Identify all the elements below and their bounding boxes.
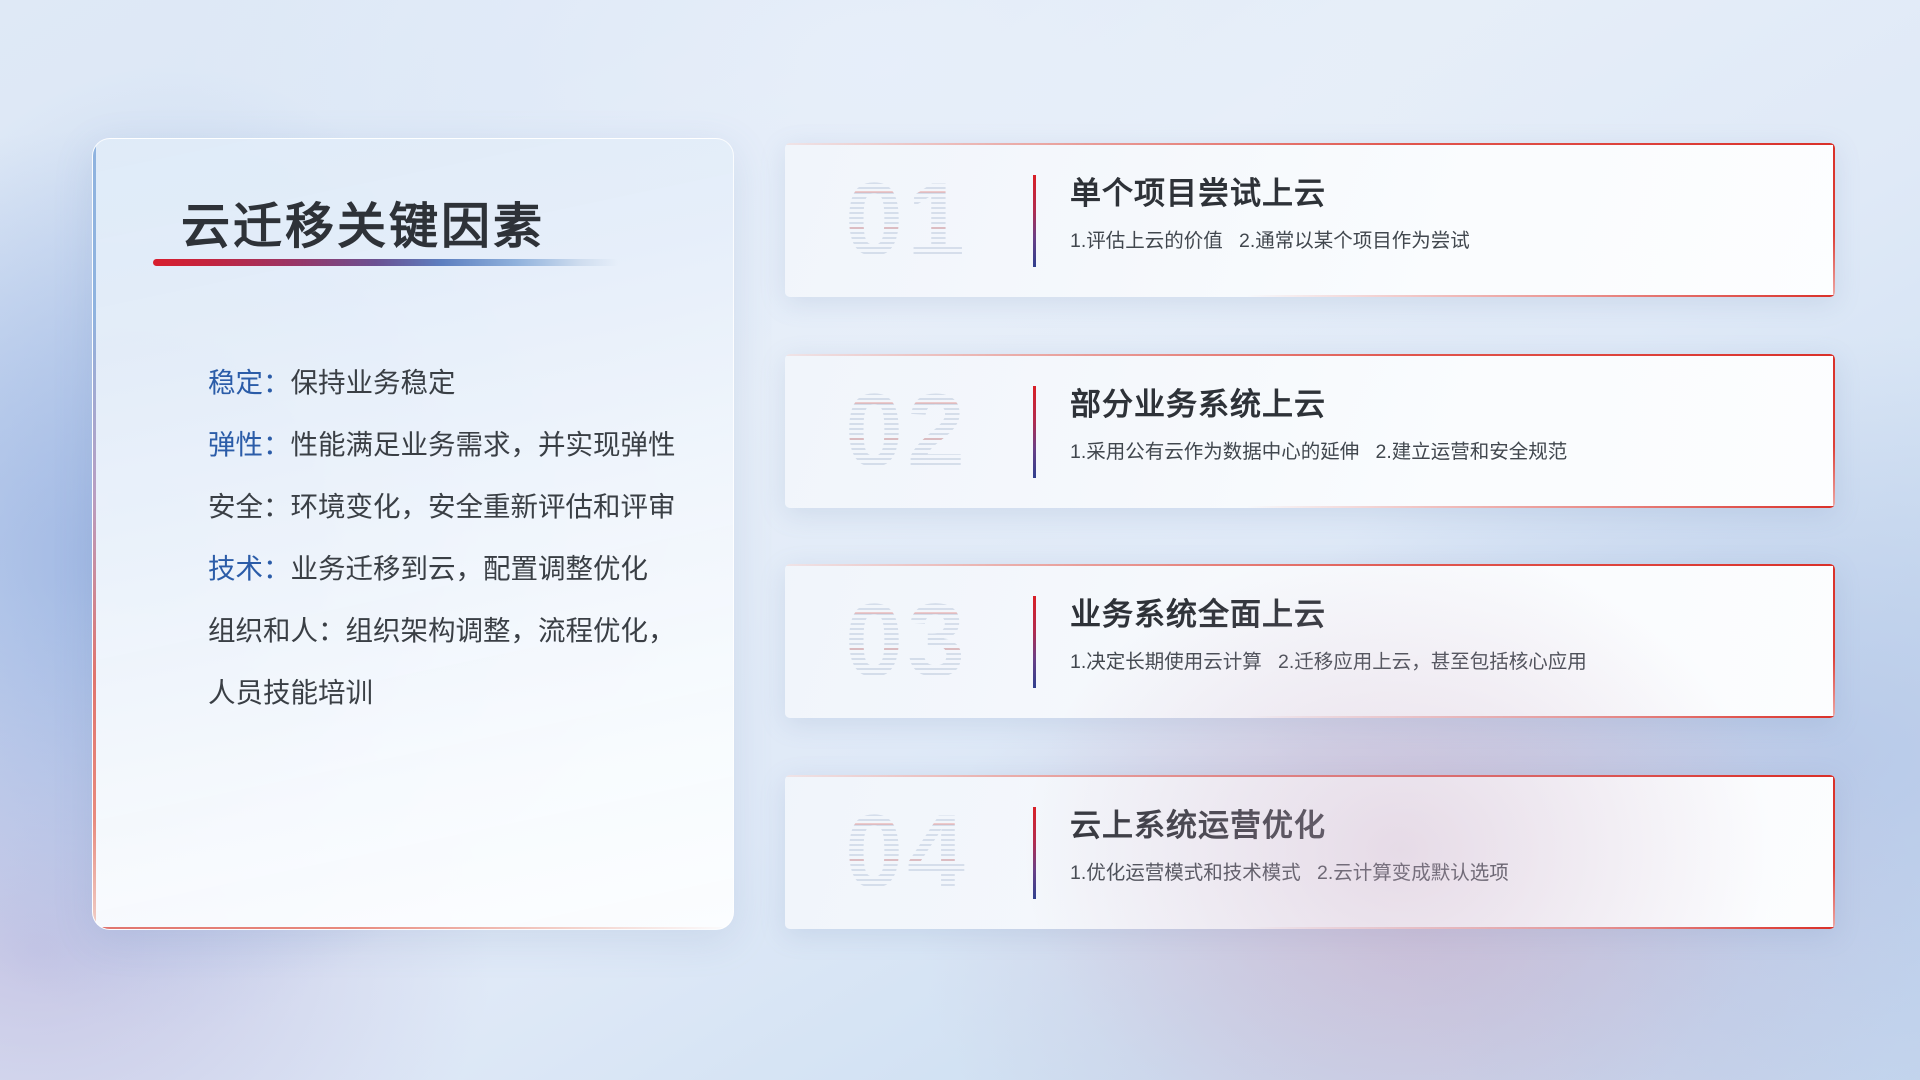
step-card-04[interactable]: 04 04 云上系统运营优化 1.优化运营模式和技术模式 2.云计算变成默认选项 — [785, 775, 1835, 929]
factor-label: 稳定： — [208, 367, 291, 398]
step-number-watermark-accent: 03 — [807, 578, 1007, 704]
card-bottom-accent-edge — [93, 927, 733, 930]
factor-label: 技术： — [208, 553, 291, 584]
card-top-accent-rule — [785, 354, 1835, 356]
card-right-accent-rule — [1833, 775, 1835, 929]
list-item: 安全：环境变化，安全重新评估和评审 — [123, 476, 703, 538]
key-factors-card: 云迁移关键因素 稳定：保持业务稳定 弹性：性能满足业务需求，并实现弹性 安全：环… — [92, 138, 734, 930]
card-bottom-accent-rule — [1247, 506, 1835, 508]
list-item: 稳定：保持业务稳定 — [123, 352, 703, 414]
card-top-accent-rule — [785, 564, 1835, 566]
step-description: 1.优化运营模式和技术模式 2.云计算变成默认选项 — [1070, 859, 1815, 887]
title-underline-gradient — [153, 259, 618, 266]
card-bottom-accent-rule — [1247, 295, 1835, 297]
factor-label: 安全： — [208, 491, 291, 522]
factor-label: 组织和人： — [208, 615, 346, 646]
card-bottom-accent-rule — [1247, 927, 1835, 929]
step-body: 部分业务系统上云 1.采用公有云作为数据中心的延伸 2.建立运营和安全规范 — [1070, 384, 1815, 466]
step-title: 云上系统运营优化 — [1070, 805, 1815, 847]
card-bottom-accent-rule — [1247, 716, 1835, 718]
step-card-03[interactable]: 03 03 业务系统全面上云 1.决定长期使用云计算 2.迁移应用上云，甚至包括… — [785, 564, 1835, 718]
step-title: 单个项目尝试上云 — [1070, 173, 1815, 215]
slide-canvas: 云迁移关键因素 稳定：保持业务稳定 弹性：性能满足业务需求，并实现弹性 安全：环… — [0, 0, 1920, 1080]
step-card-01[interactable]: 01 01 单个项目尝试上云 1.评估上云的价值 2.通常以某个项目作为尝试 — [785, 143, 1835, 297]
card-right-accent-rule — [1833, 143, 1835, 297]
step-title: 业务系统全面上云 — [1070, 594, 1815, 636]
list-item-continuation: 人员技能培训 — [123, 662, 703, 724]
factor-text: 保持业务稳定 — [291, 367, 456, 398]
step-description: 1.决定长期使用云计算 2.迁移应用上云，甚至包括核心应用 — [1070, 648, 1815, 676]
step-number-watermark-accent: 04 — [807, 789, 1007, 915]
step-description: 1.采用公有云作为数据中心的延伸 2.建立运营和安全规范 — [1070, 438, 1815, 466]
list-item: 弹性：性能满足业务需求，并实现弹性 — [123, 414, 703, 476]
list-item: 组织和人：组织架构调整，流程优化， — [123, 600, 703, 662]
step-number-watermark-accent: 01 — [807, 157, 1007, 283]
step-divider-bar — [1033, 596, 1036, 688]
factor-label: 弹性： — [208, 429, 291, 460]
card-top-accent-rule — [785, 775, 1835, 777]
card-right-accent-rule — [1833, 354, 1835, 508]
step-body: 单个项目尝试上云 1.评估上云的价值 2.通常以某个项目作为尝试 — [1070, 173, 1815, 255]
step-description: 1.评估上云的价值 2.通常以某个项目作为尝试 — [1070, 227, 1815, 255]
step-body: 云上系统运营优化 1.优化运营模式和技术模式 2.云计算变成默认选项 — [1070, 805, 1815, 887]
step-title: 部分业务系统上云 — [1070, 384, 1815, 426]
step-body: 业务系统全面上云 1.决定长期使用云计算 2.迁移应用上云，甚至包括核心应用 — [1070, 594, 1815, 676]
factor-text: 业务迁移到云，配置调整优化 — [291, 553, 649, 584]
factor-text: 环境变化，安全重新评估和评审 — [291, 491, 676, 522]
card-top-accent-rule — [785, 143, 1835, 145]
card-left-accent-edge — [93, 139, 96, 929]
key-factors-list: 稳定：保持业务稳定 弹性：性能满足业务需求，并实现弹性 安全：环境变化，安全重新… — [123, 352, 703, 724]
step-divider-bar — [1033, 386, 1036, 478]
list-item: 技术：业务迁移到云，配置调整优化 — [123, 538, 703, 600]
step-divider-bar — [1033, 807, 1036, 899]
card-right-accent-rule — [1833, 564, 1835, 718]
step-number-watermark-accent: 02 — [807, 368, 1007, 494]
step-card-02[interactable]: 02 02 部分业务系统上云 1.采用公有云作为数据中心的延伸 2.建立运营和安… — [785, 354, 1835, 508]
factor-text: 性能满足业务需求，并实现弹性 — [291, 429, 676, 460]
factor-text: 组织架构调整，流程优化， — [346, 615, 676, 646]
page-title: 云迁移关键因素 — [181, 187, 545, 258]
factor-text: 人员技能培训 — [208, 677, 373, 708]
step-divider-bar — [1033, 175, 1036, 267]
